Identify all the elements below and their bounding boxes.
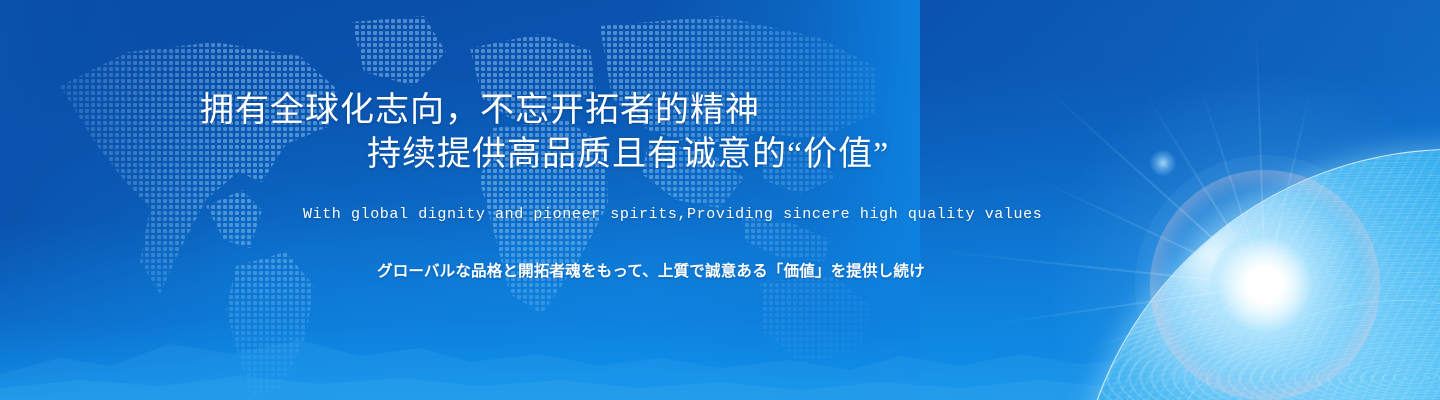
hero-banner: 拥有全球化志向，不忘开拓者的精神 持续提供高品质且有诚意的“价值” With g… [0, 0, 1440, 400]
headline-line-2: 持续提供高品质且有诚意的“价值” [367, 134, 889, 177]
lens-flare-dot [1150, 150, 1176, 176]
headline-line-1: 拥有全球化志向，不忘开拓者的精神 [200, 90, 760, 133]
flare-core-glow [1210, 230, 1320, 340]
subtitle-japanese: グローバルな品格と開拓者魂をもって、上質で誠意ある「価値」を提供し続け [377, 259, 925, 281]
subtitle-english: With global dignity and pioneer spirits,… [303, 206, 1042, 223]
